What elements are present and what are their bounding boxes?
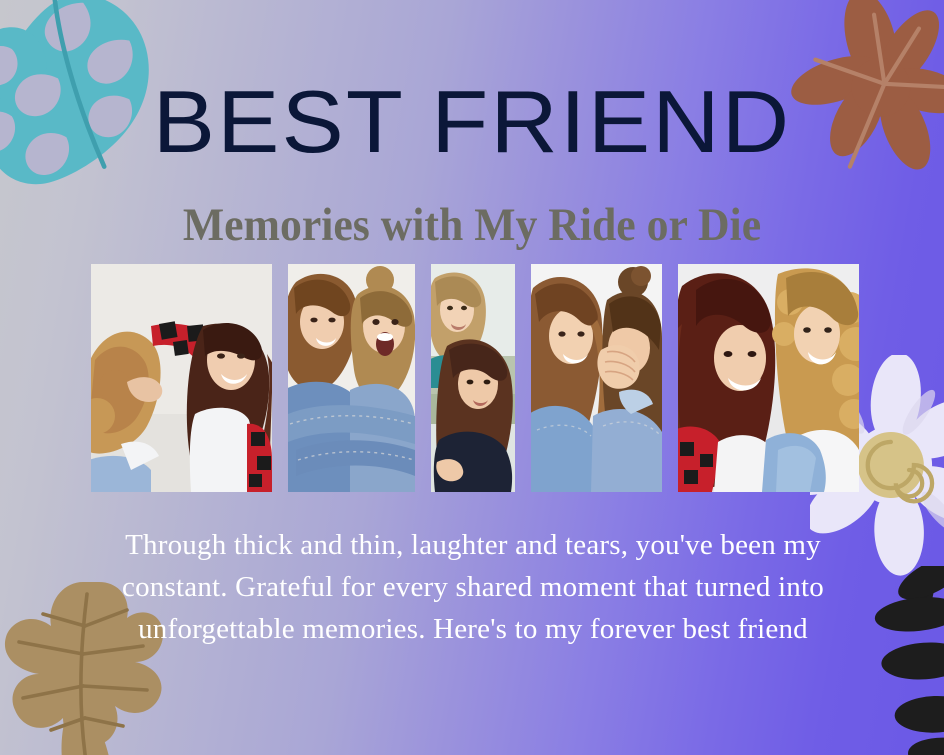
photo-item [678, 264, 859, 492]
photo-item [288, 264, 415, 492]
page-title-text: BEST FRIEND [153, 72, 791, 171]
body-paragraph: Through thick and thin, laughter and tea… [78, 524, 868, 650]
photo-item [431, 264, 515, 492]
page-subtitle: Memories with My Ride or Die [33, 200, 911, 252]
photo-item [91, 264, 272, 492]
body-paragraph-text: Through thick and thin, laughter and tea… [122, 529, 824, 645]
page-subtitle-text: Memories with My Ride or Die [183, 199, 761, 251]
photo-item [531, 264, 662, 492]
page-title: BEST FRIEND [0, 78, 944, 166]
poster-canvas: BEST FRIEND Memories with My Ride or Die [0, 0, 944, 755]
photo-strip [91, 264, 855, 492]
dark-leaf-branch-icon [858, 566, 944, 755]
